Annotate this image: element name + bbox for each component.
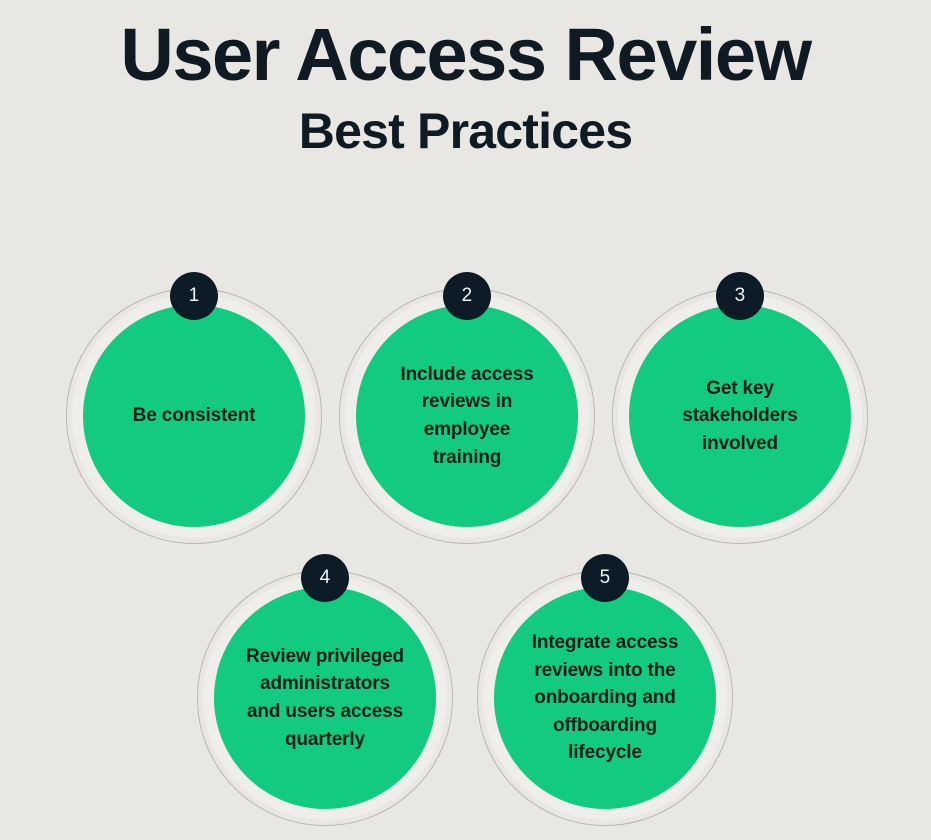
practice-card-4[interactable]: Review privileged administrators and use… [197,570,453,826]
practice-card-2[interactable]: Include access reviews in employee train… [339,288,595,544]
step-number-badge-5: 5 [581,554,629,602]
step-number-badge-1: 1 [170,272,218,320]
practice-text-1: Be consistent [103,402,285,430]
practice-text-5: Integrate access reviews into the onboar… [514,629,696,767]
practice-text-4: Review privileged administrators and use… [234,643,416,753]
step-number-badge-3: 3 [716,272,764,320]
practice-disc-1: Be consistent [83,305,305,527]
step-number-badge-2: 2 [443,272,491,320]
practice-card-grid: Be consistent 1 Include access reviews i… [0,0,931,840]
step-number-badge-4: 4 [301,554,349,602]
practice-disc-4: Review privileged administrators and use… [214,587,436,809]
practice-disc-3: Get key stakeholders involved [629,305,851,527]
practice-card-5[interactable]: Integrate access reviews into the onboar… [477,570,733,826]
practice-text-3: Get key stakeholders involved [649,375,831,458]
practice-text-2: Include access reviews in employee train… [376,361,558,471]
practice-disc-2: Include access reviews in employee train… [356,305,578,527]
practice-disc-5: Integrate access reviews into the onboar… [494,587,716,809]
practice-card-3[interactable]: Get key stakeholders involved 3 [612,288,868,544]
practice-card-1[interactable]: Be consistent 1 [66,288,322,544]
infographic-canvas: User Access Review Best Practices Be con… [0,0,931,840]
